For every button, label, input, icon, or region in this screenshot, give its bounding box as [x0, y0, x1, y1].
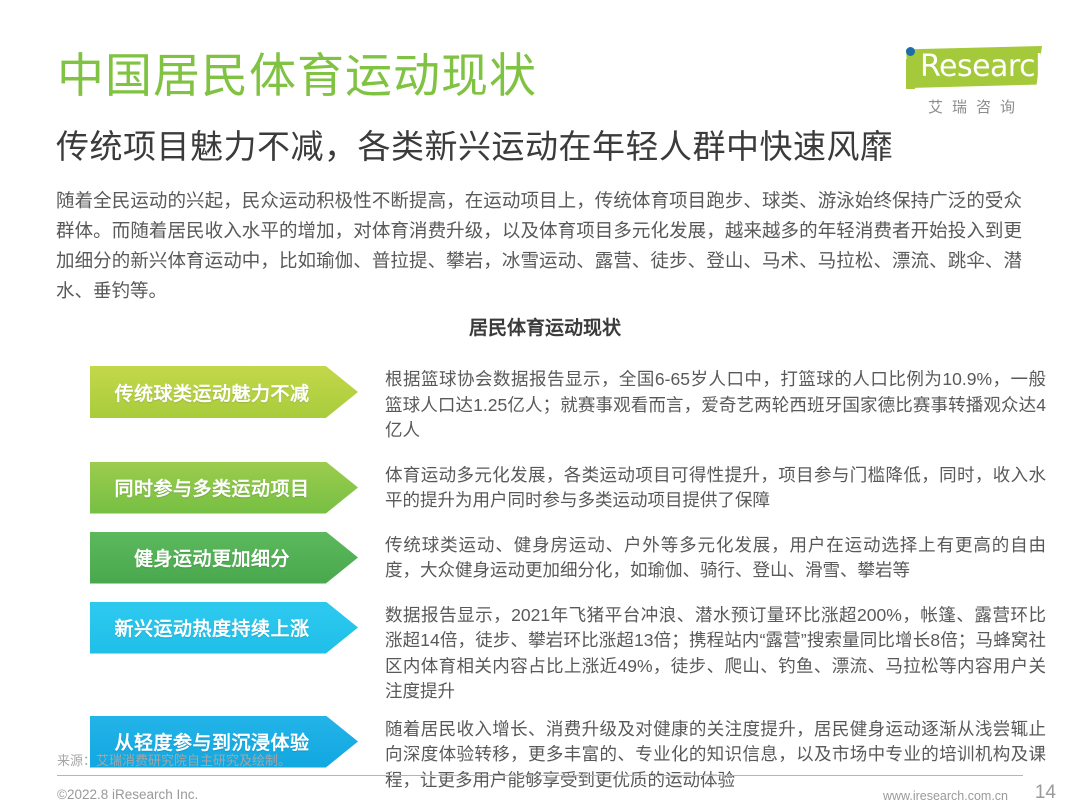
arrow-badge[interactable]: 传统球类运动魅力不减: [90, 366, 358, 418]
chart-row-description: 数据报告显示，2021年飞猪平台冲浪、潜水预订量环比涨超200%，帐篷、露营环比…: [385, 602, 1046, 705]
page-title: 中国居民体育运动现状: [57, 48, 537, 104]
footer-copyright: ©2022.8 iResearch Inc.: [57, 786, 198, 804]
logo-i-dot-icon: [906, 47, 915, 56]
arrow-badge-label: 传统球类运动魅力不减: [114, 379, 333, 406]
slide-page: 中国居民体育运动现状 传统项目魅力不减，各类新兴运动在年轻人群中快速风靡 Res…: [0, 0, 1080, 810]
footer-divider: [57, 775, 1023, 776]
chart-row: 同时参与多类运动项目体育运动多元化发展，各类运动项目可得性提升，项目参与门槛降低…: [0, 462, 1080, 514]
chart-row-description: 根据篮球协会数据报告显示，全国6-65岁人口中，打篮球的人口比例为10.9%，一…: [385, 366, 1046, 444]
chart-row-description: 体育运动多元化发展，各类运动项目可得性提升，项目参与门槛降低，同时，收入水平的提…: [385, 462, 1046, 514]
chart-title: 居民体育运动现状: [0, 316, 1080, 342]
chart-row-description: 随着居民收入增长、消费升级及对健康的关注度提升，居民健身运动逐渐从浅尝辄止向深度…: [385, 716, 1046, 794]
arrow-badge[interactable]: 新兴运动热度持续上涨: [90, 602, 358, 654]
logo-i-stem: [906, 59, 915, 89]
iresearch-logo: Research 艾瑞咨询: [890, 44, 1042, 122]
slide-header: 中国居民体育运动现状 传统项目魅力不减，各类新兴运动在年轻人群中快速风靡 Res…: [0, 0, 1080, 175]
chart-rows: 传统球类运动魅力不减根据篮球协会数据报告显示，全国6-65岁人口中，打篮球的人口…: [0, 366, 1080, 793]
arrow-badge-label: 从轻度参与到沉浸体验: [114, 728, 333, 755]
footer-website: www.iresearch.com.cn: [883, 787, 1008, 805]
row-spacer: [0, 444, 1080, 462]
logo-chinese-name: 艾瑞咨询: [912, 98, 1040, 118]
page-subtitle: 传统项目魅力不减，各类新兴运动在年轻人群中快速风靡: [56, 126, 894, 168]
arrow-badge[interactable]: 同时参与多类运动项目: [90, 462, 358, 514]
arrow-badge[interactable]: 健身运动更加细分: [90, 532, 358, 584]
chart-row: 传统球类运动魅力不减根据篮球协会数据报告显示，全国6-65岁人口中，打篮球的人口…: [0, 366, 1080, 444]
arrow-badge-label: 同时参与多类运动项目: [114, 474, 333, 501]
source-note: 来源：艾瑞消费研究院自主研究及绘制。: [57, 752, 291, 770]
page-number: 14: [1035, 782, 1056, 804]
chart-row: 健身运动更加细分传统球类运动、健身房运动、户外等多元化发展，用户在运动选择上有更…: [0, 532, 1080, 584]
intro-paragraph: 随着全民运动的兴起，民众运动积极性不断提高，在运动项目上，传统体育项目跑步、球类…: [56, 186, 1022, 306]
chart-row-description: 传统球类运动、健身房运动、户外等多元化发展，用户在运动选择上有更高的自由度，大众…: [385, 532, 1046, 584]
logo-mark: Research: [890, 44, 1042, 94]
row-spacer: [0, 514, 1080, 532]
row-spacer: [0, 584, 1080, 602]
row-spacer: [0, 705, 1080, 716]
chart-row: 新兴运动热度持续上涨数据报告显示，2021年飞猪平台冲浪、潜水预订量环比涨超20…: [0, 602, 1080, 705]
arrow-badge-label: 新兴运动热度持续上涨: [114, 614, 333, 641]
arrow-badge-label: 健身运动更加细分: [134, 544, 314, 571]
logo-wordmark: Research: [920, 50, 1054, 84]
